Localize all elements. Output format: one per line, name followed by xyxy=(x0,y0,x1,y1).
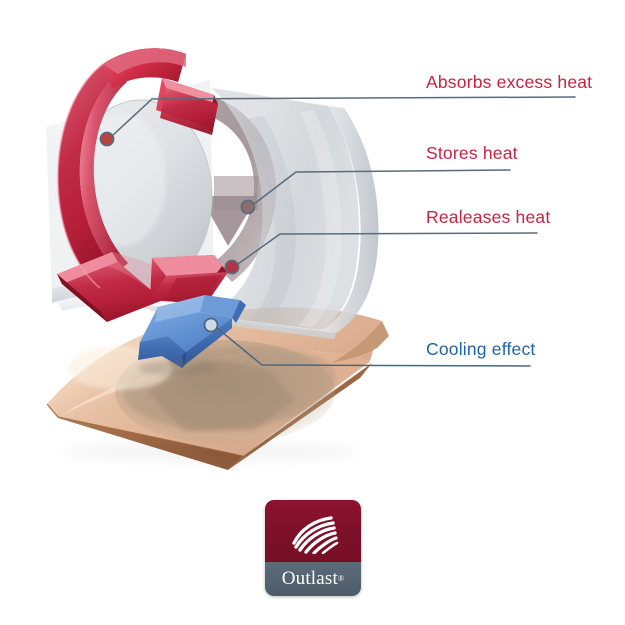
callout-label-releases: Realeases heat xyxy=(426,207,550,228)
diagram-canvas: Absorbs excess heat Stores heat Realease… xyxy=(0,0,625,625)
anchor-dot-absorbs xyxy=(101,133,114,146)
anchor-dot-releases xyxy=(226,261,239,274)
anchor-dot-stores xyxy=(242,201,255,214)
anchor-dot-cooling xyxy=(205,319,218,332)
logo-wordmark: Outlast® xyxy=(265,562,361,596)
outlast-logo: Outlast® xyxy=(265,500,361,596)
callout-label-absorbs: Absorbs excess heat xyxy=(426,72,592,93)
callout-label-cooling: Cooling effect xyxy=(426,339,536,360)
callout-label-stores: Stores heat xyxy=(426,143,518,164)
logo-brand-text: Outlast xyxy=(282,568,338,590)
outlast-swoosh-icon xyxy=(287,512,339,554)
